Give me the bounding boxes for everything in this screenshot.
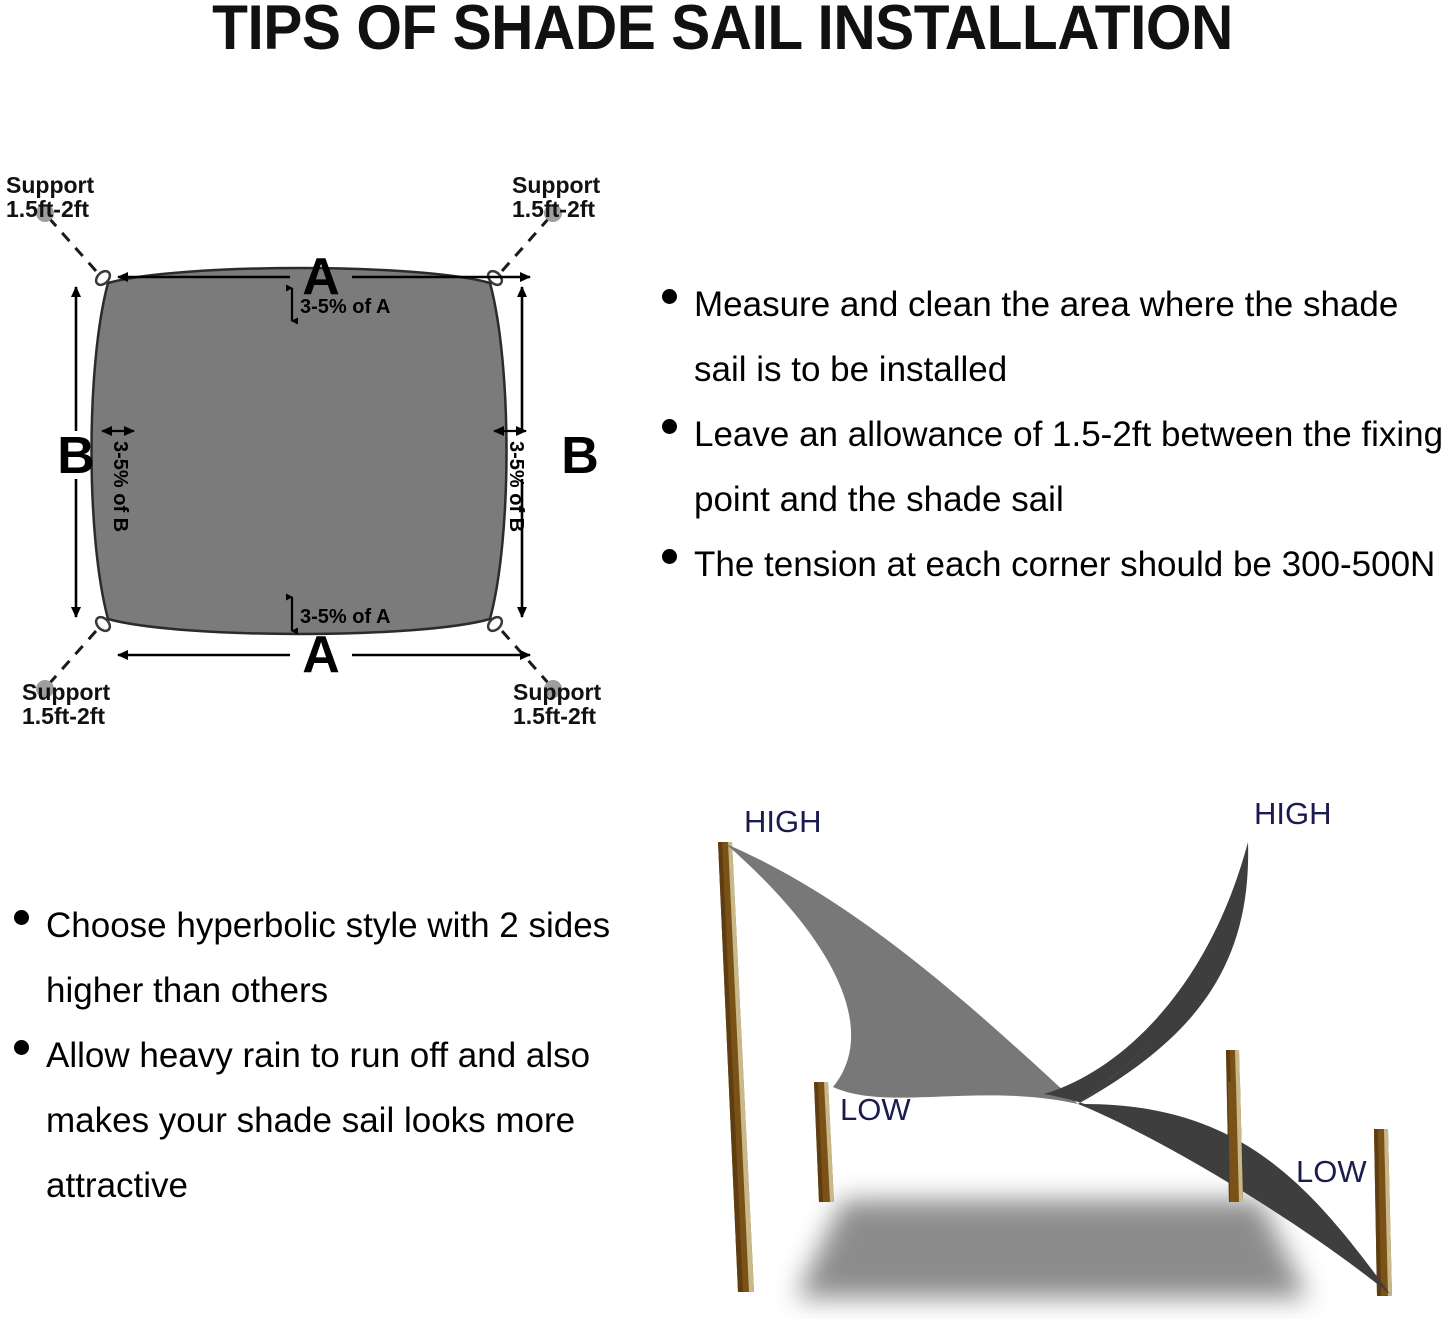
hyperbolic-sail-diagram: HIGH HIGH LOW LOW	[648, 782, 1445, 1319]
dimension-label-b-left: B	[57, 427, 95, 485]
page-title: TIPS OF SHADE SAIL INSTALLATION	[51, 0, 1395, 60]
label-high-right: HIGH	[1254, 796, 1332, 831]
support-line-top-right	[502, 217, 550, 271]
support-label-top-right-line1: Support	[512, 172, 600, 198]
dimension-b-right: B	[522, 287, 599, 617]
support-label-bottom-right-line1: Support	[513, 679, 601, 705]
dimension-b-left: B	[57, 287, 95, 617]
list-item: Leave an allowance of 1.5-2ft between th…	[648, 402, 1445, 532]
post-high-left	[718, 842, 754, 1292]
curvature-label-a-bottom: 3-5% of A	[300, 606, 390, 628]
support-label-bottom-left-line2: 1.5ft-2ft	[22, 703, 105, 729]
post-low-left	[814, 1082, 834, 1202]
infographic-page: TIPS OF SHADE SAIL INSTALLATION	[0, 0, 1445, 1319]
support-line-bottom-right	[502, 631, 550, 685]
sail-panel-light	[726, 844, 1078, 1104]
label-low-right: LOW	[1296, 1154, 1367, 1189]
label-high-left: HIGH	[744, 804, 822, 839]
dimension-a-bottom: A	[118, 626, 530, 684]
curvature-label-b-left: 3-5% of B	[109, 441, 131, 532]
dimension-label-a-bottom: A	[302, 626, 340, 684]
hyperbolic-style-tips-list: Choose hyperbolic style with 2 sides hig…	[0, 893, 625, 1218]
sail-body	[92, 268, 507, 634]
support-line-top-left	[48, 217, 96, 271]
post-low-right	[1374, 1129, 1392, 1296]
shade-sail-shape	[92, 268, 507, 634]
list-item: The tension at each corner should be 300…	[648, 532, 1445, 597]
support-label-top-left-line2: 1.5ft-2ft	[6, 196, 89, 222]
post-mid-right-front-sliver	[1228, 1082, 1243, 1202]
list-item: Allow heavy rain to run off and also mak…	[0, 1023, 625, 1218]
list-item: Measure and clean the area where the sha…	[648, 272, 1445, 402]
label-low-left: LOW	[840, 1092, 911, 1127]
support-line-bottom-left	[48, 631, 96, 685]
support-label-top-left-line1: Support	[6, 172, 94, 198]
installation-tips-list: Measure and clean the area where the sha…	[648, 272, 1445, 597]
curvature-label-b-right: 3-5% of B	[505, 441, 527, 532]
ground-shadow	[796, 1200, 1308, 1298]
dimension-label-b-right: B	[561, 427, 599, 485]
support-label-top-right-line2: 1.5ft-2ft	[512, 196, 595, 222]
list-item: Choose hyperbolic style with 2 sides hig…	[0, 893, 625, 1023]
support-label-bottom-left-line1: Support	[22, 679, 110, 705]
support-label-bottom-right-line2: 1.5ft-2ft	[513, 703, 596, 729]
curvature-label-a-top: 3-5% of A	[300, 296, 390, 318]
rectangular-sail-diagram: Support 1.5ft-2ft Support 1.5ft-2ft Supp…	[0, 155, 660, 735]
